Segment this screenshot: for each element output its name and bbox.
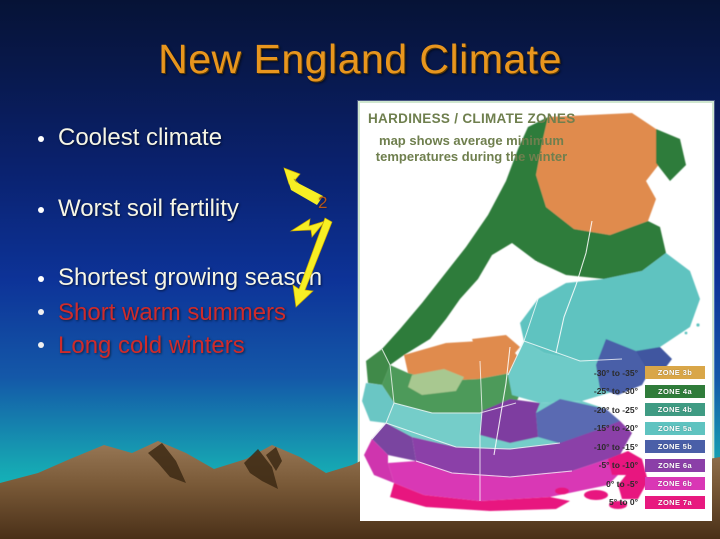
climate-zone-map[interactable]: HARDINESS / CLIMATE ZONES map shows aver… xyxy=(358,101,714,523)
legend-zone-swatch: ZONE 5a xyxy=(645,422,705,435)
list-item: Coolest climate xyxy=(34,124,364,151)
legend-row: -10° to -15°ZONE 5b xyxy=(566,439,705,455)
legend-zone-swatch: ZONE 5b xyxy=(645,440,705,453)
list-item: Short warm summers xyxy=(34,299,364,326)
legend-zone-swatch: ZONE 4a xyxy=(645,385,705,398)
map-title: HARDINESS / CLIMATE ZONES xyxy=(368,111,583,126)
list-item-label: Short warm summers xyxy=(58,299,286,326)
list-item-label: Coolest climate xyxy=(58,124,222,151)
legend-temperature-range: -25° to -30° xyxy=(566,386,645,396)
list-item: Worst soil fertility xyxy=(34,195,364,222)
legend-row: -30° to -35°ZONE 3b xyxy=(566,365,705,381)
legend-row: -5° to -10°ZONE 6a xyxy=(566,458,705,474)
legend-temperature-range: 5° to 0° xyxy=(566,497,645,507)
legend-temperature-range: -10° to -15° xyxy=(566,442,645,452)
list-item-label: Shortest growing season xyxy=(58,264,322,291)
legend-row: 0° to -5°ZONE 6b xyxy=(566,476,705,492)
list-item: Shortest growing season xyxy=(34,264,364,291)
annotation-number: 2 xyxy=(318,193,327,213)
legend-zone-swatch: ZONE 6b xyxy=(645,477,705,490)
legend-zone-swatch: ZONE 7a xyxy=(645,496,705,509)
legend-row: 5° to 0°ZONE 7a xyxy=(566,495,705,511)
bullet-dot-icon xyxy=(38,342,44,348)
list-item-label: Long cold winters xyxy=(58,332,245,359)
map-caption: HARDINESS / CLIMATE ZONES map shows aver… xyxy=(368,111,583,165)
legend-zone-swatch: ZONE 4b xyxy=(645,403,705,416)
legend-row: -20° to -25°ZONE 4b xyxy=(566,402,705,418)
map-subtitle: map shows average minimum temperatures d… xyxy=(368,133,583,165)
legend-zone-swatch: ZONE 3b xyxy=(645,366,705,379)
bullet-dot-icon xyxy=(38,136,44,142)
legend-temperature-range: 0° to -5° xyxy=(566,479,645,489)
legend-temperature-range: -5° to -10° xyxy=(566,460,645,470)
list-item-label: Worst soil fertility xyxy=(58,195,239,222)
slide-canvas: New England Climate Coolest climate Wors… xyxy=(0,0,720,539)
legend-temperature-range: -20° to -25° xyxy=(566,405,645,415)
map-legend: -30° to -35°ZONE 3b-25° to -30°ZONE 4a-2… xyxy=(566,365,705,513)
list-item: Long cold winters xyxy=(34,332,364,359)
legend-row: -25° to -30°ZONE 4a xyxy=(566,384,705,400)
legend-temperature-range: -30° to -35° xyxy=(566,368,645,378)
legend-temperature-range: -15° to -20° xyxy=(566,423,645,433)
bullet-list: Coolest climate Worst soil fertility Sho… xyxy=(34,124,364,359)
bullet-dot-icon xyxy=(38,207,44,213)
bullet-dot-icon xyxy=(38,276,44,282)
page-title: New England Climate xyxy=(0,36,720,83)
bullet-dot-icon xyxy=(38,309,44,315)
legend-row: -15° to -20°ZONE 5a xyxy=(566,421,705,437)
legend-zone-swatch: ZONE 6a xyxy=(645,459,705,472)
